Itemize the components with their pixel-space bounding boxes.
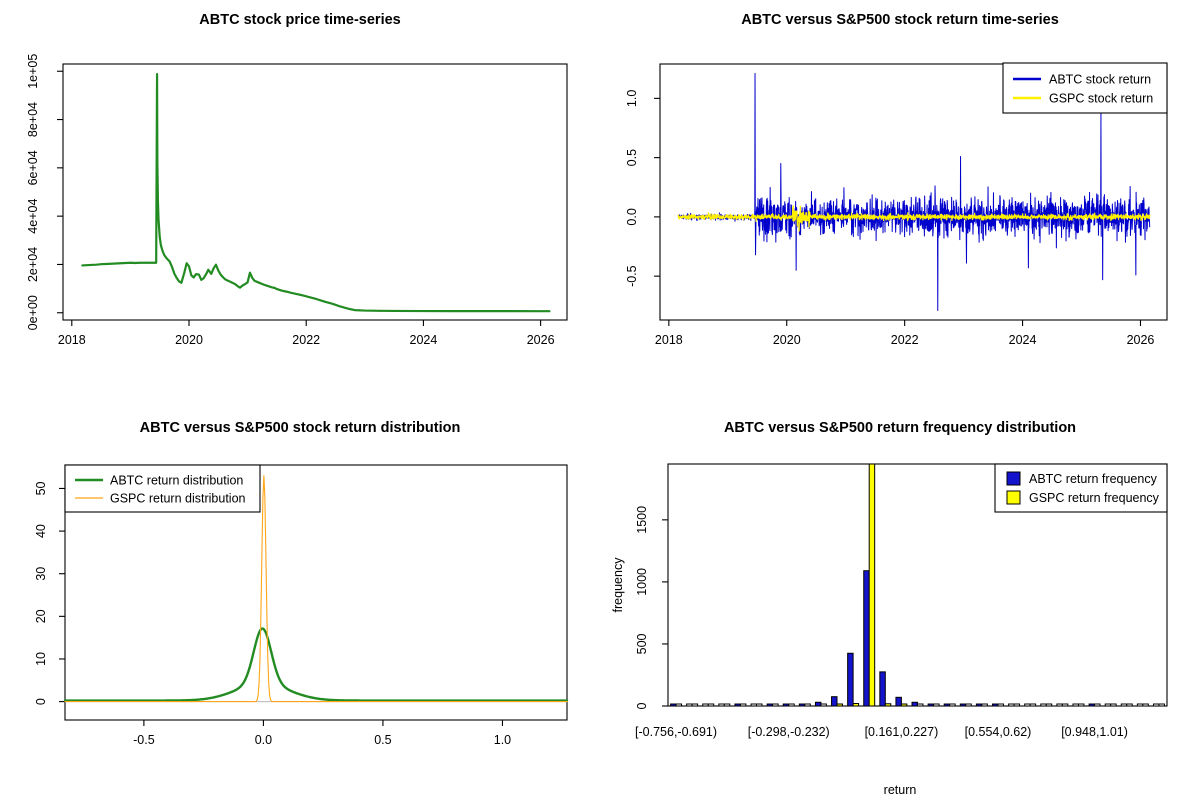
- y-tick-label: 40: [34, 524, 48, 538]
- histogram-bar: [789, 704, 794, 706]
- panel-3-title: ABTC versus S&P500 stock return distribu…: [140, 420, 461, 436]
- histogram-bar: [821, 704, 826, 706]
- histogram-bar: [837, 704, 842, 706]
- histogram-bar: [1127, 704, 1132, 706]
- x-tick-label: 2020: [175, 333, 203, 347]
- histogram-bar: [799, 704, 804, 706]
- histogram-bar: [1078, 704, 1083, 706]
- x-tick-label: -0.5: [133, 733, 155, 747]
- histogram-bar: [1159, 704, 1164, 706]
- panel-4-svg: ABTC versus S&P500 return frequency dist…: [600, 400, 1200, 800]
- legend-label: GSPC return distribution: [110, 492, 246, 506]
- y-tick-label: 0.5: [625, 149, 639, 166]
- histogram-bar: [848, 653, 853, 706]
- histogram-bar: [1095, 704, 1100, 706]
- y-tick-label: -0.5: [625, 265, 639, 287]
- histogram-bar: [1030, 704, 1035, 706]
- histogram-bar: [1062, 704, 1067, 706]
- histogram-bar: [773, 704, 778, 706]
- panel-3-svg: ABTC versus S&P500 stock return distribu…: [0, 400, 600, 800]
- y-tick-label: 1500: [635, 506, 649, 534]
- histogram-bar: [1089, 704, 1094, 706]
- histogram-bar: [934, 704, 939, 706]
- panel-abtc-price-timeseries: ABTC stock price time-series 0e+002e+044…: [0, 0, 600, 400]
- histogram-bar: [993, 704, 998, 706]
- histogram-bar: [885, 704, 890, 706]
- histogram-bar: [676, 704, 681, 706]
- histogram-bar: [1057, 704, 1062, 706]
- y-tick-label: 50: [34, 481, 48, 495]
- panel-1-title: ABTC stock price time-series: [199, 12, 400, 28]
- x-tick-label: 2026: [527, 333, 555, 347]
- histogram-bar: [1025, 704, 1030, 706]
- legend-label: GSPC return frequency: [1029, 491, 1160, 505]
- histogram-bar: [1111, 704, 1116, 706]
- panel-1-svg: ABTC stock price time-series 0e+002e+044…: [0, 0, 600, 400]
- y-tick-label: 1e+05: [26, 54, 40, 89]
- abtc-price-line: [82, 74, 549, 311]
- histogram-bar: [1009, 704, 1014, 706]
- legend-label: GSPC stock return: [1049, 92, 1153, 106]
- x-tick-label: 2024: [410, 333, 438, 347]
- histogram-bar: [805, 704, 810, 706]
- histogram-bar: [767, 704, 772, 706]
- y-tick-label: 500: [635, 633, 649, 654]
- y-tick-label: 0: [635, 702, 649, 709]
- x-tick-label: 2024: [1009, 333, 1037, 347]
- histogram-bar: [998, 704, 1003, 706]
- x-tick-label: [0.554,0.62): [965, 725, 1032, 739]
- histogram-bar: [912, 702, 917, 706]
- histogram-bar: [815, 702, 820, 706]
- histogram-bar: [853, 704, 858, 706]
- x-tick-label: 2018: [58, 333, 86, 347]
- abtc-density-line: [65, 629, 567, 701]
- histogram-bar: [982, 704, 987, 706]
- y-tick-label: 0e+00: [26, 295, 40, 330]
- y-tick-label: 10: [34, 652, 48, 666]
- histogram-bar: [692, 704, 697, 706]
- x-tick-label: 2022: [891, 333, 919, 347]
- x-tick-label: 0.5: [374, 733, 391, 747]
- histogram-bar: [832, 697, 837, 706]
- panel-2-title: ABTC versus S&P500 stock return time-ser…: [741, 12, 1059, 28]
- panel-abtc-gspc-return-timeseries: ABTC versus S&P500 stock return time-ser…: [600, 0, 1200, 400]
- histogram-bar: [944, 704, 949, 706]
- histogram-bar: [960, 704, 965, 706]
- y-tick-label: 1000: [635, 568, 649, 596]
- histogram-bar: [1046, 704, 1051, 706]
- x-tick-label: 2020: [773, 333, 801, 347]
- histogram-bar: [740, 704, 745, 706]
- histogram-bar: [735, 704, 740, 706]
- histogram-bar: [687, 704, 692, 706]
- histogram-bar: [1105, 704, 1110, 706]
- histogram-bar: [966, 704, 971, 706]
- histogram-bar: [928, 704, 933, 706]
- histogram-bar: [757, 704, 762, 706]
- x-tick-label: 1.0: [494, 733, 511, 747]
- x-tick-label: 0.0: [255, 733, 272, 747]
- x-tick-label: [-0.756,-0.691): [635, 725, 717, 739]
- panel-2-svg: ABTC versus S&P500 stock return time-ser…: [600, 0, 1200, 400]
- panel-abtc-gspc-return-frequency: ABTC versus S&P500 return frequency dist…: [600, 400, 1200, 800]
- histogram-bar: [751, 704, 756, 706]
- histogram-bar: [976, 704, 981, 706]
- y-tick-label: 20: [34, 609, 48, 623]
- histogram-bar: [896, 697, 901, 706]
- y-tick-label: 4e+04: [26, 199, 40, 234]
- panel-abtc-gspc-return-distribution: ABTC versus S&P500 stock return distribu…: [0, 400, 600, 800]
- histogram-bar: [864, 571, 869, 706]
- histogram-bar: [901, 704, 906, 706]
- x-axis-label: return: [884, 783, 917, 797]
- plot-box: [63, 64, 567, 320]
- legend-swatch-square: [1007, 472, 1020, 485]
- histogram-bar: [703, 704, 708, 706]
- legend-swatch-square: [1007, 491, 1020, 504]
- y-tick-label: 1.0: [625, 90, 639, 107]
- histogram-bar: [671, 704, 676, 706]
- x-tick-label: [0.161,0.227): [865, 725, 939, 739]
- y-tick-label: 8e+04: [26, 102, 40, 137]
- histogram-bar: [1143, 704, 1148, 706]
- histogram-bar: [880, 672, 885, 706]
- histogram-bar: [1153, 704, 1158, 706]
- histogram-bar: [1041, 704, 1046, 706]
- histogram-bar: [918, 704, 923, 706]
- y-axis-label: frequency: [611, 557, 625, 613]
- histogram-bar: [869, 464, 874, 706]
- x-tick-label: 2026: [1127, 333, 1155, 347]
- y-tick-label: 2e+04: [26, 247, 40, 282]
- legend-label: ABTC stock return: [1049, 73, 1151, 87]
- y-tick-label: 0: [34, 698, 48, 705]
- legend-box: [1003, 63, 1167, 113]
- y-tick-label: 6e+04: [26, 150, 40, 185]
- histogram-bar: [708, 704, 713, 706]
- histogram-bar: [1014, 704, 1019, 706]
- x-tick-label: 2018: [655, 333, 683, 347]
- histogram-bar: [1121, 704, 1126, 706]
- histogram-bar: [783, 704, 788, 706]
- histogram-bar: [1137, 704, 1142, 706]
- histogram-bar: [1073, 704, 1078, 706]
- x-tick-label: 2022: [292, 333, 320, 347]
- histogram-bar: [724, 704, 729, 706]
- x-tick-label: [0.948,1.01): [1061, 725, 1128, 739]
- histogram-bar: [719, 704, 724, 706]
- x-tick-label: [-0.298,-0.232): [748, 725, 830, 739]
- y-tick-label: 0.0: [625, 208, 639, 225]
- histogram-bar: [950, 704, 955, 706]
- panel-4-title: ABTC versus S&P500 return frequency dist…: [724, 420, 1076, 436]
- legend-label: ABTC return distribution: [110, 474, 243, 488]
- legend-label: ABTC return frequency: [1029, 472, 1158, 486]
- r-graphics-device: ABTC stock price time-series 0e+002e+044…: [0, 0, 1200, 800]
- y-tick-label: 30: [34, 567, 48, 581]
